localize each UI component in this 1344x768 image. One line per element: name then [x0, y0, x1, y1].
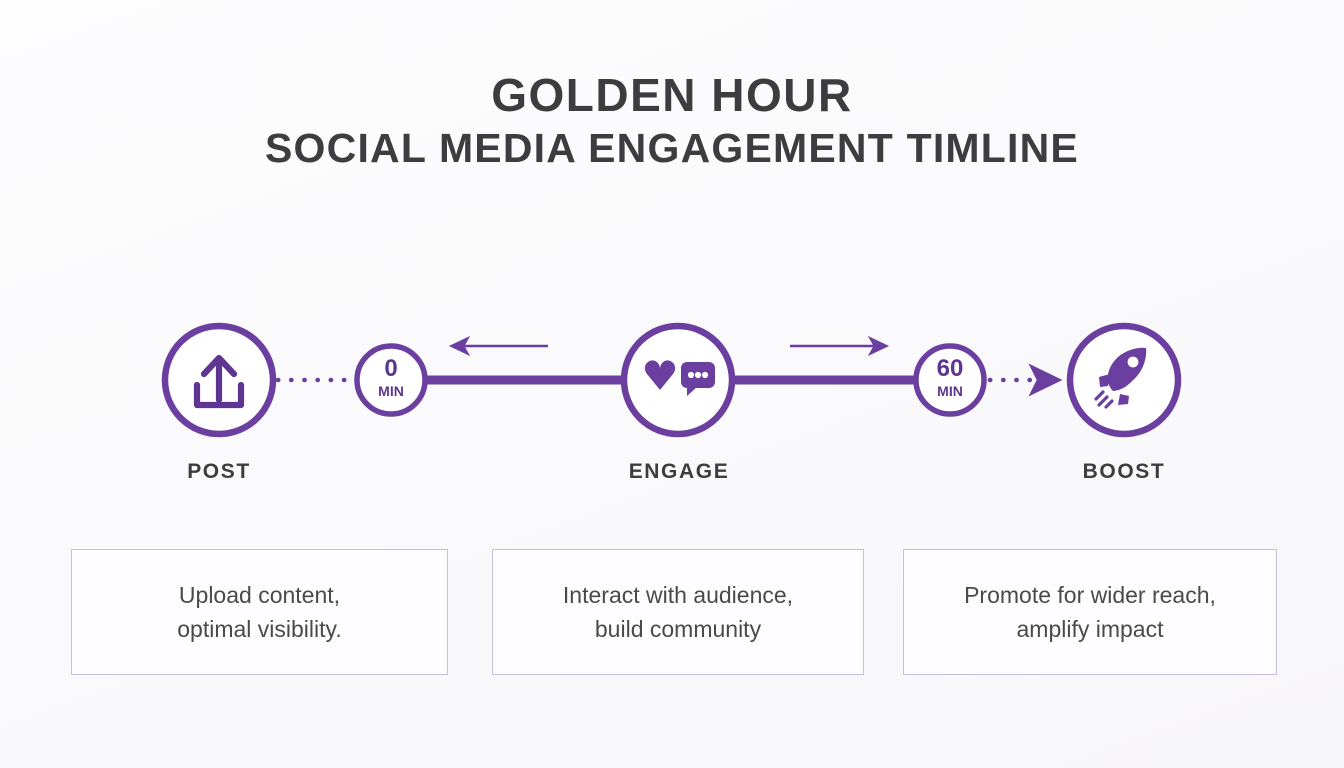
timeline-node-label-engage: ENGAGE — [559, 460, 799, 484]
marker-end-value: 60 — [937, 355, 964, 382]
description-text-boost: Promote for wider reach, amplify impact — [964, 578, 1216, 647]
timeline-node-label-post: POST — [99, 460, 339, 484]
timeline-marker-end[interactable]: 60 MIN — [916, 346, 984, 414]
marker-end-unit: MIN — [937, 383, 963, 399]
description-text-engage: Interact with audience, build community — [563, 578, 793, 647]
description-box-boost: Promote for wider reach, amplify impact — [903, 549, 1277, 675]
title-line-secondary: SOCIAL MEDIA ENGAGEMENT TIMLINE — [0, 122, 1344, 174]
description-row: Upload content, optimal visibility. Inte… — [0, 549, 1344, 675]
page-title: GOLDEN HOUR SOCIAL MEDIA ENGAGEMENT TIML… — [0, 68, 1344, 175]
infographic-canvas: GOLDEN HOUR SOCIAL MEDIA ENGAGEMENT TIML… — [0, 0, 1344, 768]
timeline-marker-start[interactable]: 0 MIN — [357, 346, 425, 414]
timeline-node-label-boost: BOOST — [1004, 460, 1244, 484]
timeline-node-engage[interactable] — [624, 326, 732, 434]
description-text-post: Upload content, optimal visibility. — [177, 578, 341, 647]
timeline-diagram: 0 MIN 60 MIN — [0, 312, 1344, 512]
description-box-engage: Interact with audience, build community — [492, 549, 864, 675]
title-line-primary: GOLDEN HOUR — [0, 68, 1344, 122]
timeline-node-boost[interactable] — [1070, 326, 1178, 434]
marker-start-unit: MIN — [378, 383, 404, 399]
timeline-node-post[interactable] — [165, 326, 273, 434]
marker-start-value: 0 — [384, 355, 397, 382]
description-box-post: Upload content, optimal visibility. — [71, 549, 448, 675]
